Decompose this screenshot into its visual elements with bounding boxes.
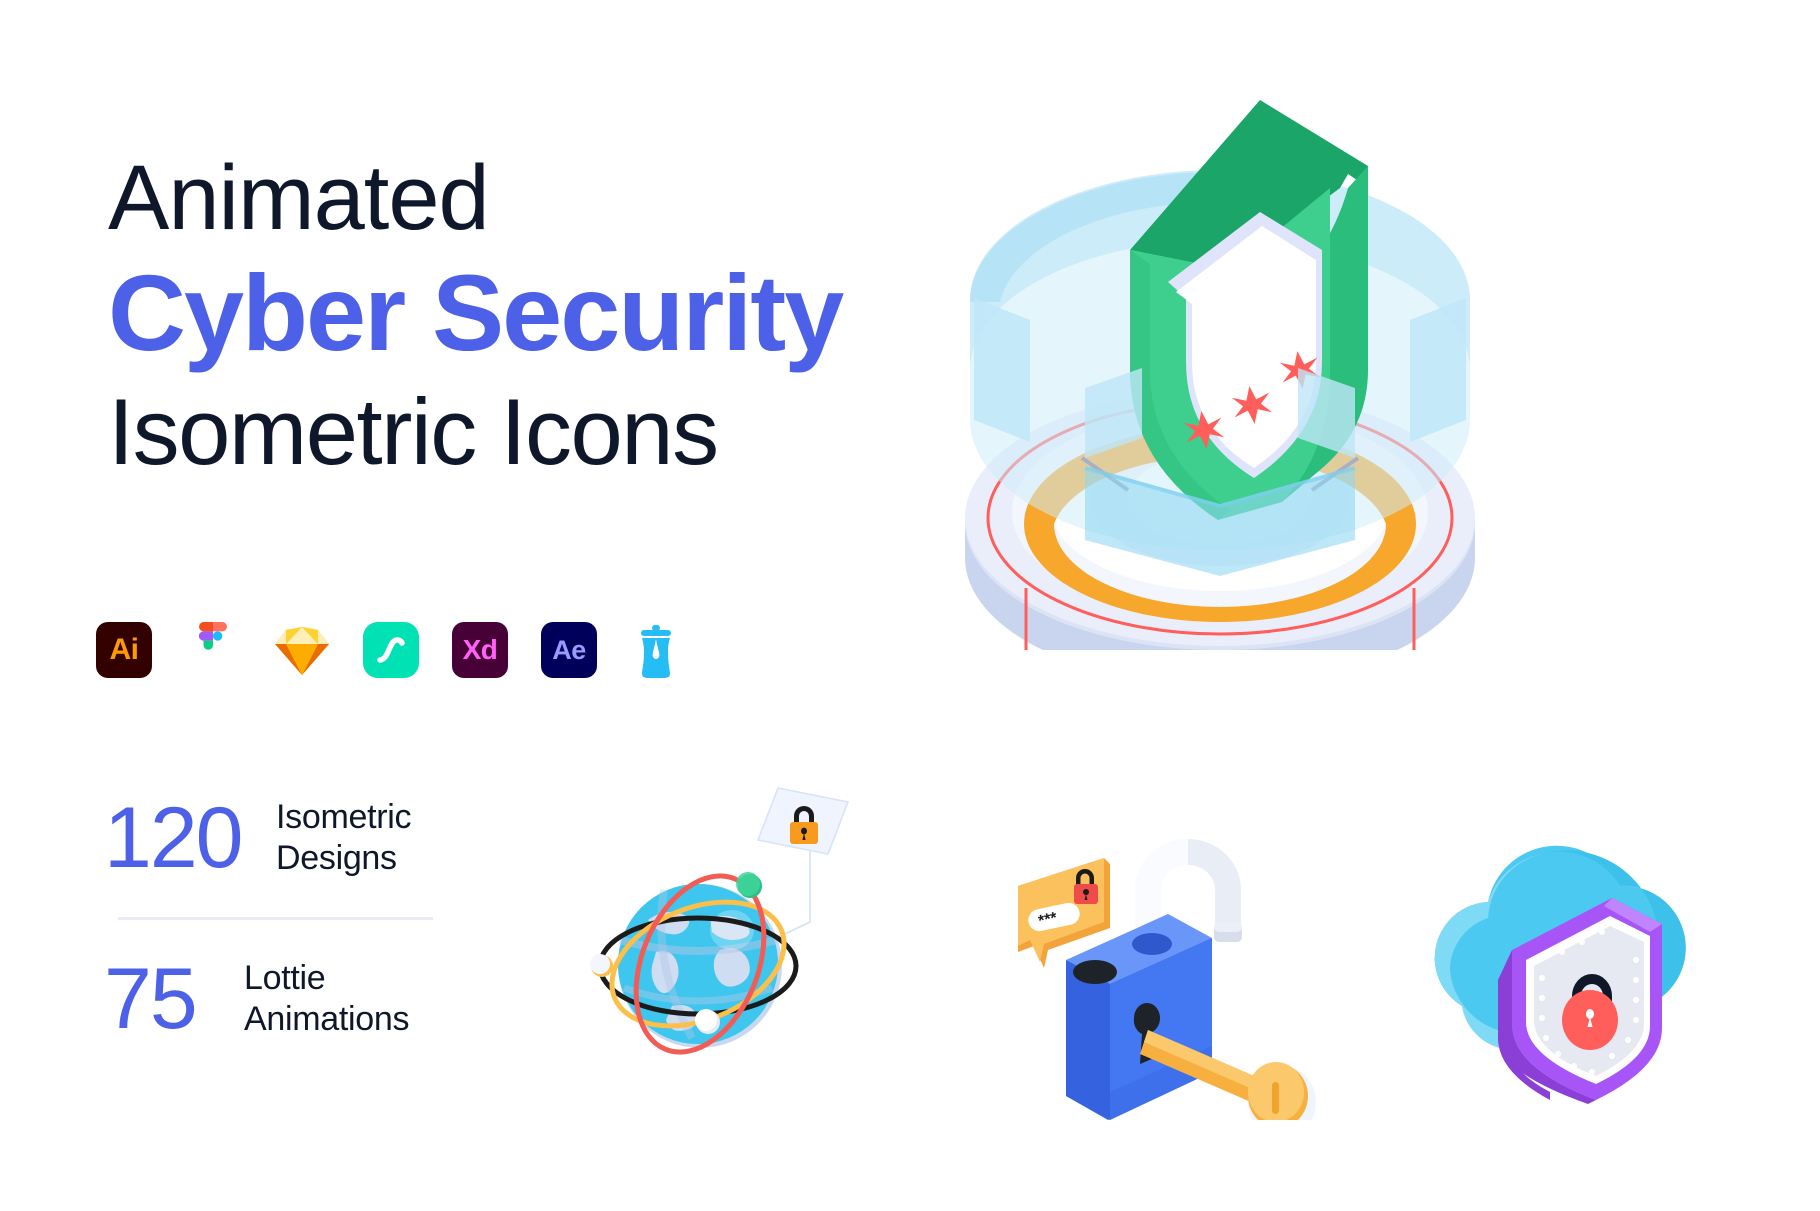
after-effects-icon[interactable]: Ae [541,622,597,678]
stat-label-designs-line2: Designs [276,838,411,879]
shield-shape [1130,100,1368,520]
after-effects-label: Ae [552,635,586,666]
title-line-isometric-icons: Isometric Icons [108,378,928,485]
headline-block: Animated Cyber Security Isometric Icons [108,150,928,485]
title-line-cyber-security: Cyber Security [108,249,928,376]
stat-number-animations: 75 [104,956,222,1042]
padlock-key-illustration: *** [1000,820,1330,1125]
lottiefiles-icon[interactable] [630,622,686,678]
principle-icon[interactable] [363,622,419,678]
adobe-xd-label: Xd [463,634,498,666]
stats-block: 120 Isometric Designs 75 Lottie Animatio… [104,795,524,1042]
stat-row-animations: 75 Lottie Animations [104,956,524,1042]
figma-icon[interactable] [185,622,241,678]
app-format-icon-row: Ai [96,622,686,678]
stat-label-animations-line1: Lottie [244,958,409,999]
poster-canvas: Animated Cyber Security Isometric Icons … [0,0,1820,1211]
adobe-illustrator-label: Ai [110,633,139,667]
stat-number-designs: 120 [104,795,254,881]
title-line-animated: Animated [108,150,928,247]
stat-row-designs: 120 Isometric Designs [104,795,524,881]
hero-shield-illustration [930,70,1510,655]
adobe-xd-icon[interactable]: Xd [452,622,508,678]
stats-divider [118,917,433,920]
sketch-icon[interactable] [274,622,330,678]
stat-label-designs: Isometric Designs [276,797,411,880]
globe-security-illustration [560,780,880,1085]
stat-label-animations: Lottie Animations [244,958,409,1041]
stat-label-designs-line1: Isometric [276,797,411,838]
adobe-illustrator-icon[interactable]: Ai [96,622,152,678]
cloud-shield-illustration [1400,800,1740,1115]
stat-label-animations-line2: Animations [244,999,409,1040]
